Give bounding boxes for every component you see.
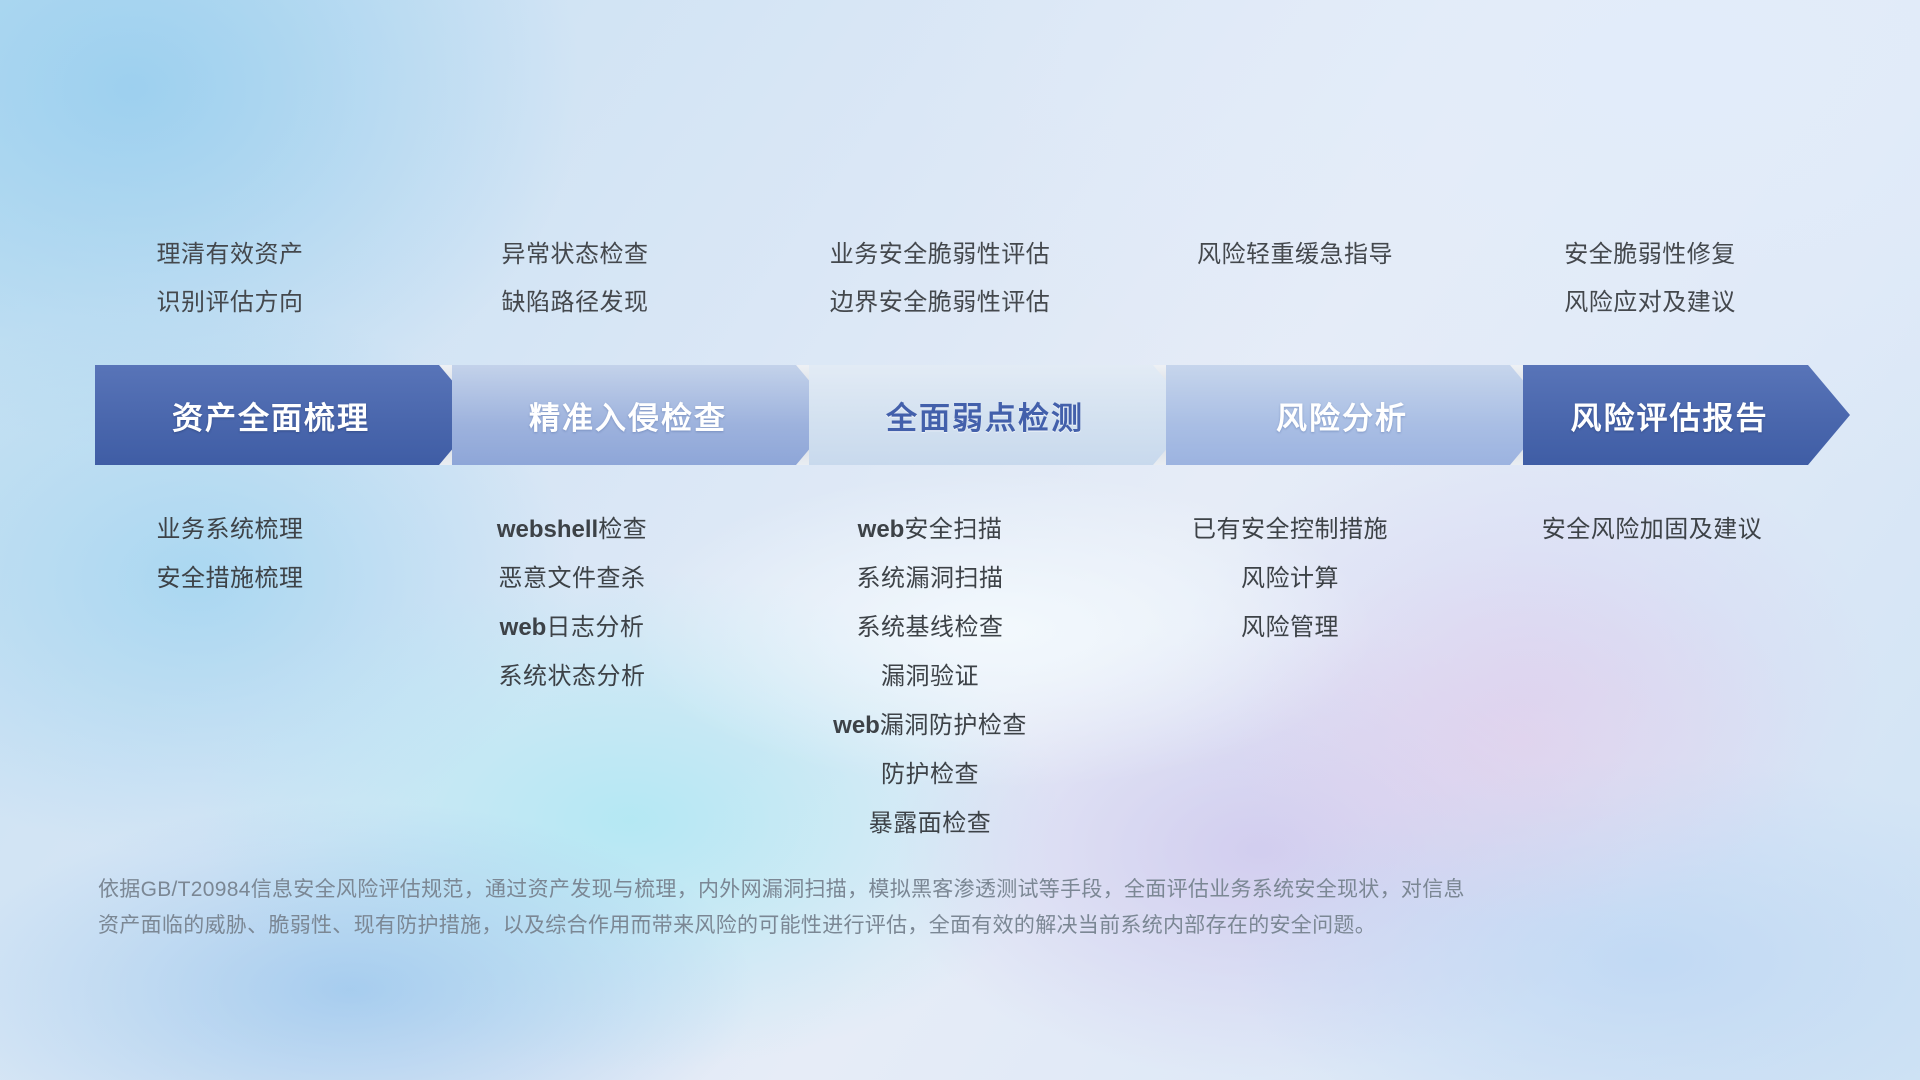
stage-top-labels-5: 安全脆弱性修复风险应对及建议 (1420, 243, 1880, 315)
stage-bottom-labels-5: 安全风险加固及建议 (1422, 518, 1882, 542)
bottom-label-latin: web (833, 712, 880, 739)
footer-line-2: 资产面临的威胁、脆弱性、现有防护措施，以及综合作用而带来风险的可能性进行评估，全… (98, 908, 1618, 944)
bottom-label-text: 日志分析 (546, 614, 644, 641)
chevron-stage-1[interactable]: 资产全面梳理 (95, 365, 481, 465)
bottom-label: 风险计算 (1060, 567, 1520, 591)
bottom-label-text: 检查 (598, 516, 647, 543)
chevron-stage-4[interactable]: 风险分析 (1166, 365, 1552, 465)
chevron-stage-2[interactable]: 精准入侵检查 (452, 365, 838, 465)
bottom-label: 暴露面检查 (700, 812, 1160, 836)
bottom-label-latin: webshell (497, 516, 598, 543)
chevron-label-3: 全面弱点检测 (886, 393, 1084, 438)
bottom-label: 漏洞验证 (700, 665, 1160, 689)
bottom-label-text: 漏洞验证 (881, 663, 979, 690)
top-label: 边界安全脆弱性评估 (710, 291, 1170, 315)
bottom-label-text: 系统状态分析 (499, 663, 646, 690)
bottom-label-text: 恶意文件查杀 (499, 565, 646, 592)
bottom-label-text: 已有安全控制措施 (1192, 516, 1388, 543)
bottom-label-text: 系统漏洞扫描 (857, 565, 1004, 592)
chevron-label-2: 精准入侵检查 (529, 393, 727, 438)
chevron-label-1: 资产全面梳理 (172, 393, 370, 438)
process-diagram: 理清有效资产识别评估方向 异常状态检查缺陷路径发现 业务安全脆弱性评估边界安全脆… (0, 0, 1920, 1080)
footer-description: 依据GB/T20984信息安全风险评估规范，通过资产发现与梳理，内外网漏洞扫描，… (98, 872, 1618, 944)
bottom-label-text: 暴露面检查 (869, 810, 992, 837)
bottom-label-text: 漏洞防护检查 (880, 712, 1027, 739)
bottom-label-latin: web (500, 614, 547, 641)
process-chevron-band: 资产全面梳理 精准入侵检查 全面弱点检测 风险分析 风险评估报告 (95, 365, 1850, 465)
bottom-label-latin: web (858, 516, 905, 543)
top-label: 安全脆弱性修复 (1420, 243, 1880, 267)
bottom-label-text: 系统基线检查 (857, 614, 1004, 641)
bottom-label-text: 风险管理 (1241, 614, 1339, 641)
bottom-label: 防护检查 (700, 763, 1160, 787)
bottom-label-text: 防护检查 (881, 761, 979, 788)
bottom-label-text: 安全风险加固及建议 (1542, 516, 1763, 543)
chevron-stage-5[interactable]: 风险评估报告 (1523, 365, 1850, 465)
footer-line-1: 依据GB/T20984信息安全风险评估规范，通过资产发现与梳理，内外网漏洞扫描，… (98, 872, 1618, 908)
chevron-label-5: 风险评估报告 (1571, 393, 1769, 438)
bottom-label-text: 安全扫描 (904, 516, 1002, 543)
chevron-label-4: 风险分析 (1276, 393, 1408, 438)
bottom-label: 风险管理 (1060, 616, 1520, 640)
bottom-label: 安全风险加固及建议 (1422, 518, 1882, 542)
bottom-label-text: 安全措施梳理 (157, 565, 304, 592)
bottom-label-text: 风险计算 (1241, 565, 1339, 592)
chevron-stage-3[interactable]: 全面弱点检测 (809, 365, 1195, 465)
bottom-label: web漏洞防护检查 (700, 714, 1160, 738)
bottom-label-text: 业务系统梳理 (157, 516, 304, 543)
top-label: 风险应对及建议 (1420, 291, 1880, 315)
